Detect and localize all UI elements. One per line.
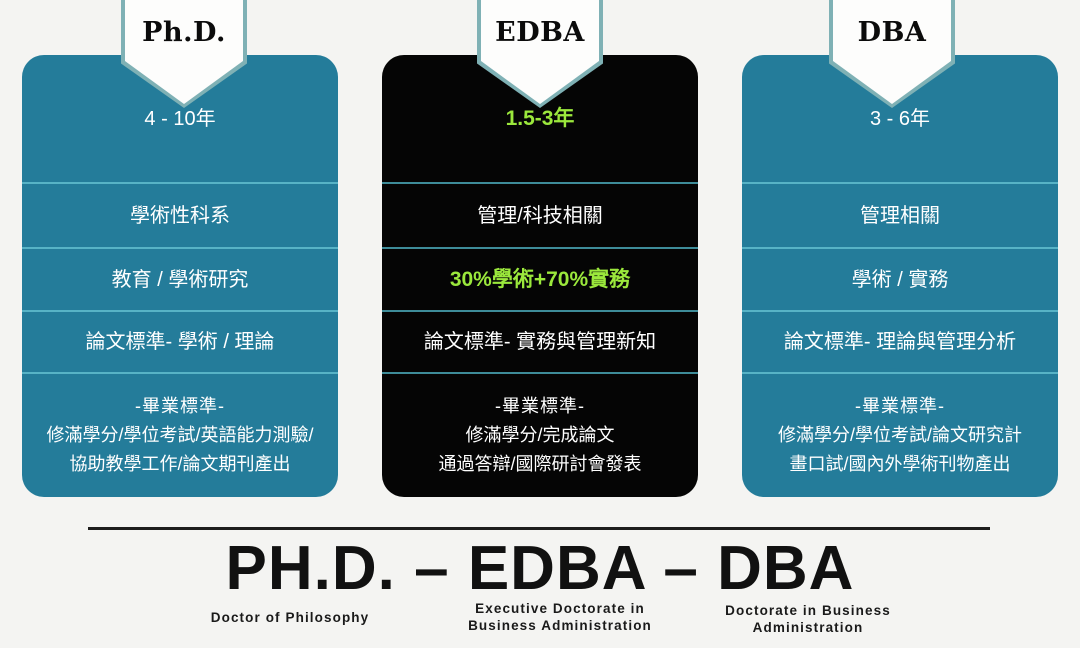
- footer-subtitle-dba: Doctorate in Business Administration: [690, 603, 926, 637]
- pennant-edba-label: EDBA: [495, 17, 585, 48]
- footer-divider-rule: [88, 527, 990, 530]
- card-dba-focus-text: 學術 / 實務: [852, 265, 949, 295]
- footer-subtitle-edba-line-1: Executive Doctorate in: [440, 601, 680, 618]
- card-phd-row-field: 學術性科系: [22, 182, 338, 247]
- card-phd-row-thesis: 論文標準- 學術 / 理論: [22, 310, 338, 372]
- card-dba-field-text: 管理相關: [860, 201, 940, 231]
- pennant-phd-label: Ph.D.: [142, 17, 226, 48]
- card-dba-row-thesis: 論文標準- 理論與管理分析: [742, 310, 1058, 372]
- card-edba-row-focus: 30%學術+70%實務: [382, 247, 698, 310]
- card-dba-duration-text: 3 - 6年: [870, 104, 930, 134]
- comparison-card-edba: 1.5-3年 管理/科技相關 30%學術+70%實務 論文標準- 實務與管理新知…: [382, 55, 698, 497]
- card-dba-grad-line-1: 修滿學分/學位考試/論文研究計: [778, 421, 1022, 450]
- card-dba-grad-line-2: 畫口試/國內外學術刊物產出: [790, 450, 1011, 479]
- card-edba-row-field: 管理/科技相關: [382, 182, 698, 247]
- card-edba-grad-line-2: 通過答辯/國際研討會發表: [439, 450, 642, 479]
- footer-subtitle-dba-line-1: Doctorate in Business: [690, 603, 926, 620]
- card-dba-grad-heading: -畢業標準-: [855, 392, 945, 421]
- card-phd-row-graduation: -畢業標準- 修滿學分/學位考試/英語能力測驗/ 協助教學工作/論文期刊產出: [22, 372, 338, 497]
- footer-subtitle-edba: Executive Doctorate in Business Administ…: [440, 601, 680, 635]
- card-phd-duration-text: 4 - 10年: [144, 104, 215, 134]
- card-phd-focus-text: 教育 / 學術研究: [112, 265, 249, 295]
- footer-subtitle-phd-line-1: Doctor of Philosophy: [190, 610, 390, 627]
- infographic-canvas: 4 - 10年 學術性科系 教育 / 學術研究 論文標準- 學術 / 理論 -畢…: [0, 0, 1080, 648]
- pennant-dba-label: DBA: [858, 17, 927, 48]
- card-dba-row-graduation: -畢業標準- 修滿學分/學位考試/論文研究計 畫口試/國內外學術刊物產出: [742, 372, 1058, 497]
- footer-subtitle-dba-line-2: Administration: [690, 620, 926, 637]
- card-edba-focus-text: 30%學術+70%實務: [450, 264, 630, 296]
- comparison-card-phd: 4 - 10年 學術性科系 教育 / 學術研究 論文標準- 學術 / 理論 -畢…: [22, 55, 338, 497]
- card-phd-field-text: 學術性科系: [130, 201, 230, 231]
- card-edba-row-graduation: -畢業標準- 修滿學分/完成論文 通過答辯/國際研討會發表: [382, 372, 698, 497]
- card-phd-thesis-text: 論文標準- 學術 / 理論: [86, 327, 275, 357]
- card-dba-row-focus: 學術 / 實務: [742, 247, 1058, 310]
- card-phd-grad-heading: -畢業標準-: [135, 392, 225, 421]
- card-phd-grad-line-1: 修滿學分/學位考試/英語能力測驗/: [46, 421, 313, 450]
- footer-subtitle-phd: Doctor of Philosophy: [190, 610, 390, 627]
- card-phd-grad-line-2: 協助教學工作/論文期刊產出: [70, 450, 291, 479]
- card-edba-grad-heading: -畢業標準-: [495, 392, 585, 421]
- footer-subtitle-edba-line-2: Business Administration: [440, 618, 680, 635]
- card-phd-row-focus: 教育 / 學術研究: [22, 247, 338, 310]
- card-edba-grad-line-1: 修滿學分/完成論文: [465, 421, 614, 450]
- footer-main-title: PH.D. – EDBA – DBA: [0, 536, 1080, 601]
- comparison-card-dba: 3 - 6年 管理相關 學術 / 實務 論文標準- 理論與管理分析 -畢業標準-…: [742, 55, 1058, 497]
- card-dba-row-field: 管理相關: [742, 182, 1058, 247]
- card-edba-row-thesis: 論文標準- 實務與管理新知: [382, 310, 698, 372]
- footer-title-block: PH.D. – EDBA – DBA: [0, 536, 1080, 601]
- card-edba-field-text: 管理/科技相關: [477, 201, 603, 231]
- footer-subtitle-group: Doctor of Philosophy Executive Doctorate…: [0, 600, 1080, 648]
- card-dba-thesis-text: 論文標準- 理論與管理分析: [784, 327, 1016, 357]
- card-edba-thesis-text: 論文標準- 實務與管理新知: [424, 327, 656, 357]
